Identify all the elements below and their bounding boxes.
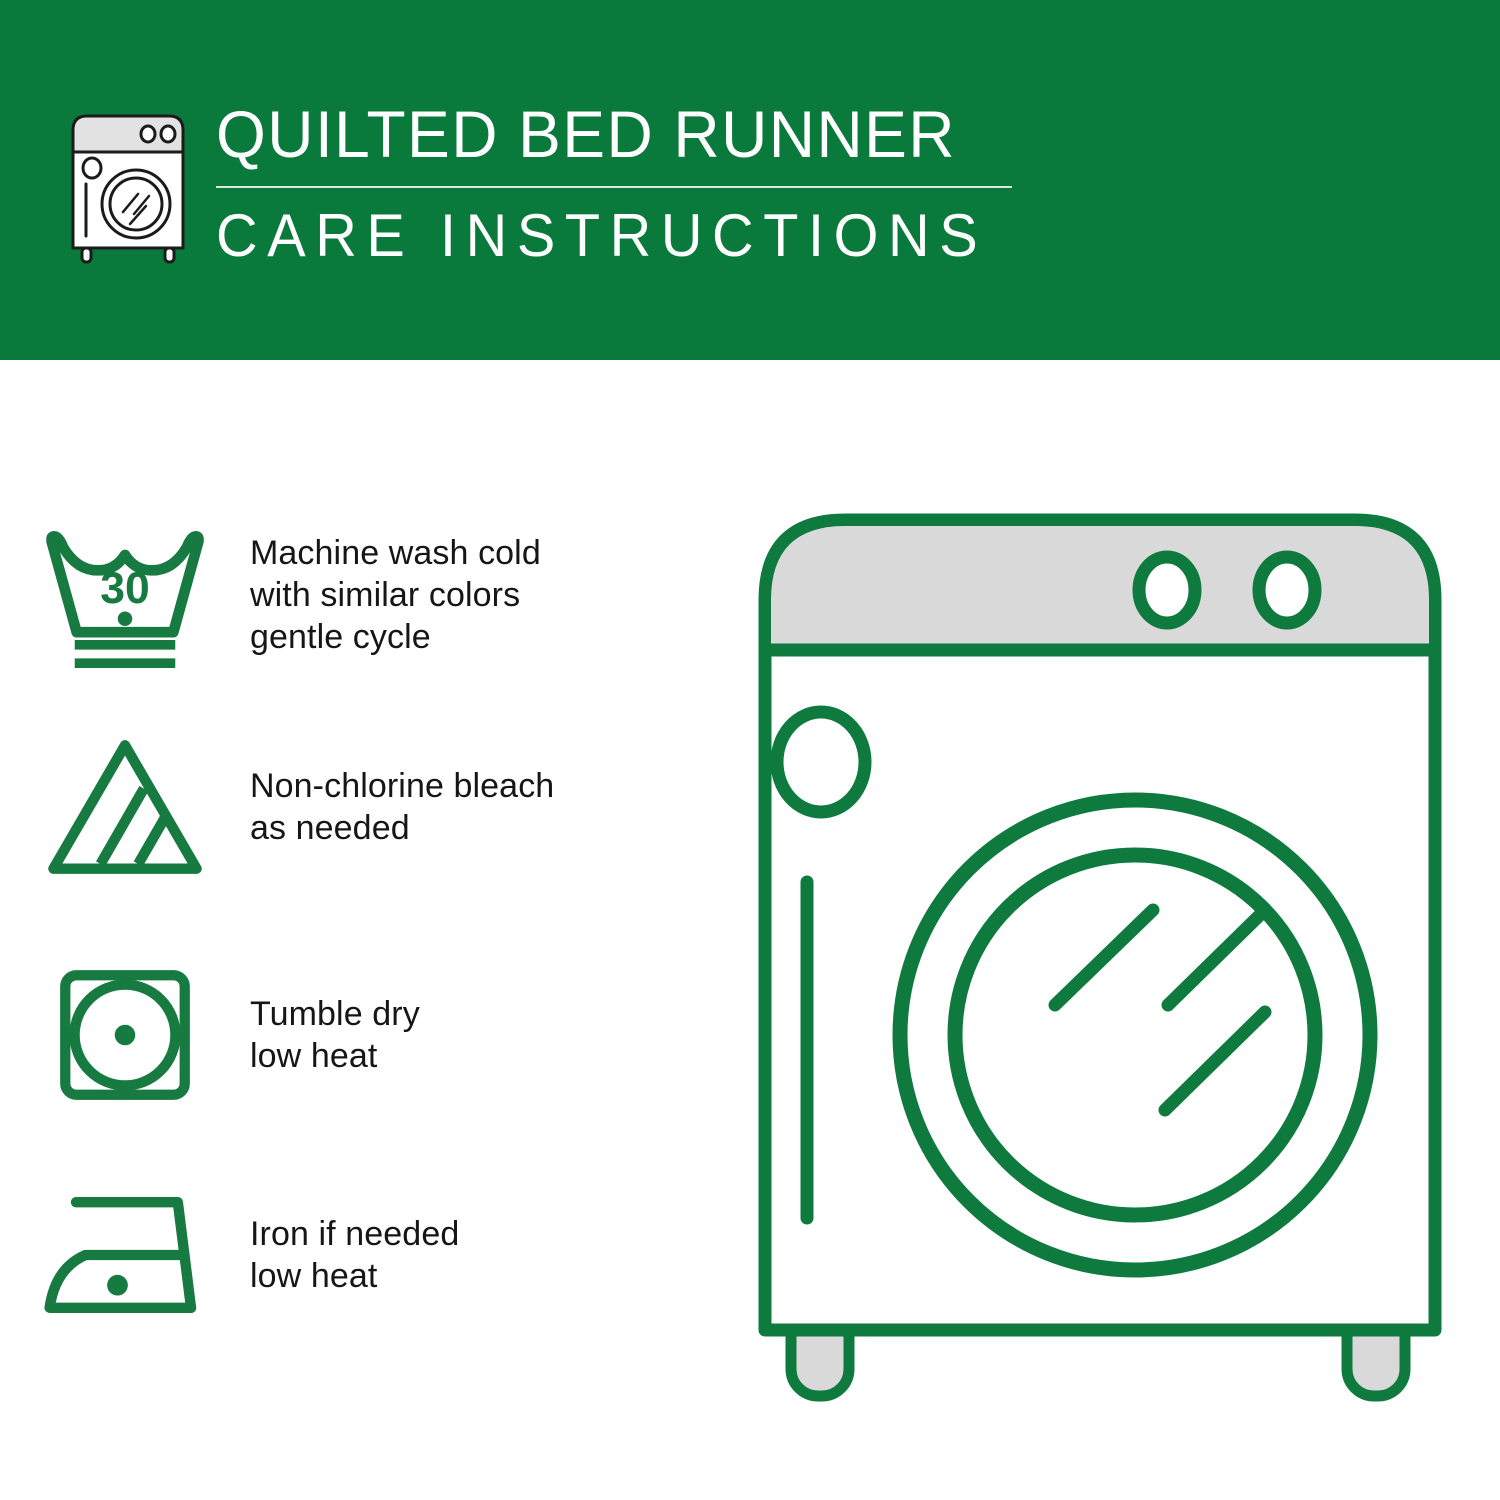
iron-low-heat-icon [0,1189,250,1321]
page-title: QUILTED BED RUNNER [216,96,1186,172]
svg-text:30: 30 [100,564,149,613]
machine-wash-30-gentle-icon: 30 [0,518,250,673]
front-load-washing-machine-illustration [735,490,1465,1420]
care-item-bleach: Non-chlorine bleach as needed [0,722,700,892]
care-symbol-list: 30 Machine wash cold with similar colors… [0,360,700,1500]
care-item-label: Iron if needed low heat [250,1213,459,1297]
care-item-machine-wash: 30 Machine wash cold with similar colors… [0,510,700,680]
non-chlorine-bleach-icon [0,734,250,880]
care-item-tumble-dry: Tumble dry low heat [0,950,700,1120]
care-item-label: Machine wash cold with similar colors ge… [250,532,541,658]
page-subtitle: CARE INSTRUCTIONS [216,202,1176,270]
care-item-iron: Iron if needed low heat [0,1170,700,1340]
care-item-label: Tumble dry low heat [250,993,420,1077]
header-divider [216,186,1012,188]
tumble-dry-low-icon [0,965,250,1105]
header-text-block: QUILTED BED RUNNER CARE INSTRUCTIONS [216,96,1216,270]
washing-machine-icon [68,108,188,266]
care-item-label: Non-chlorine bleach as needed [250,765,554,849]
header-band: QUILTED BED RUNNER CARE INSTRUCTIONS [0,0,1500,360]
